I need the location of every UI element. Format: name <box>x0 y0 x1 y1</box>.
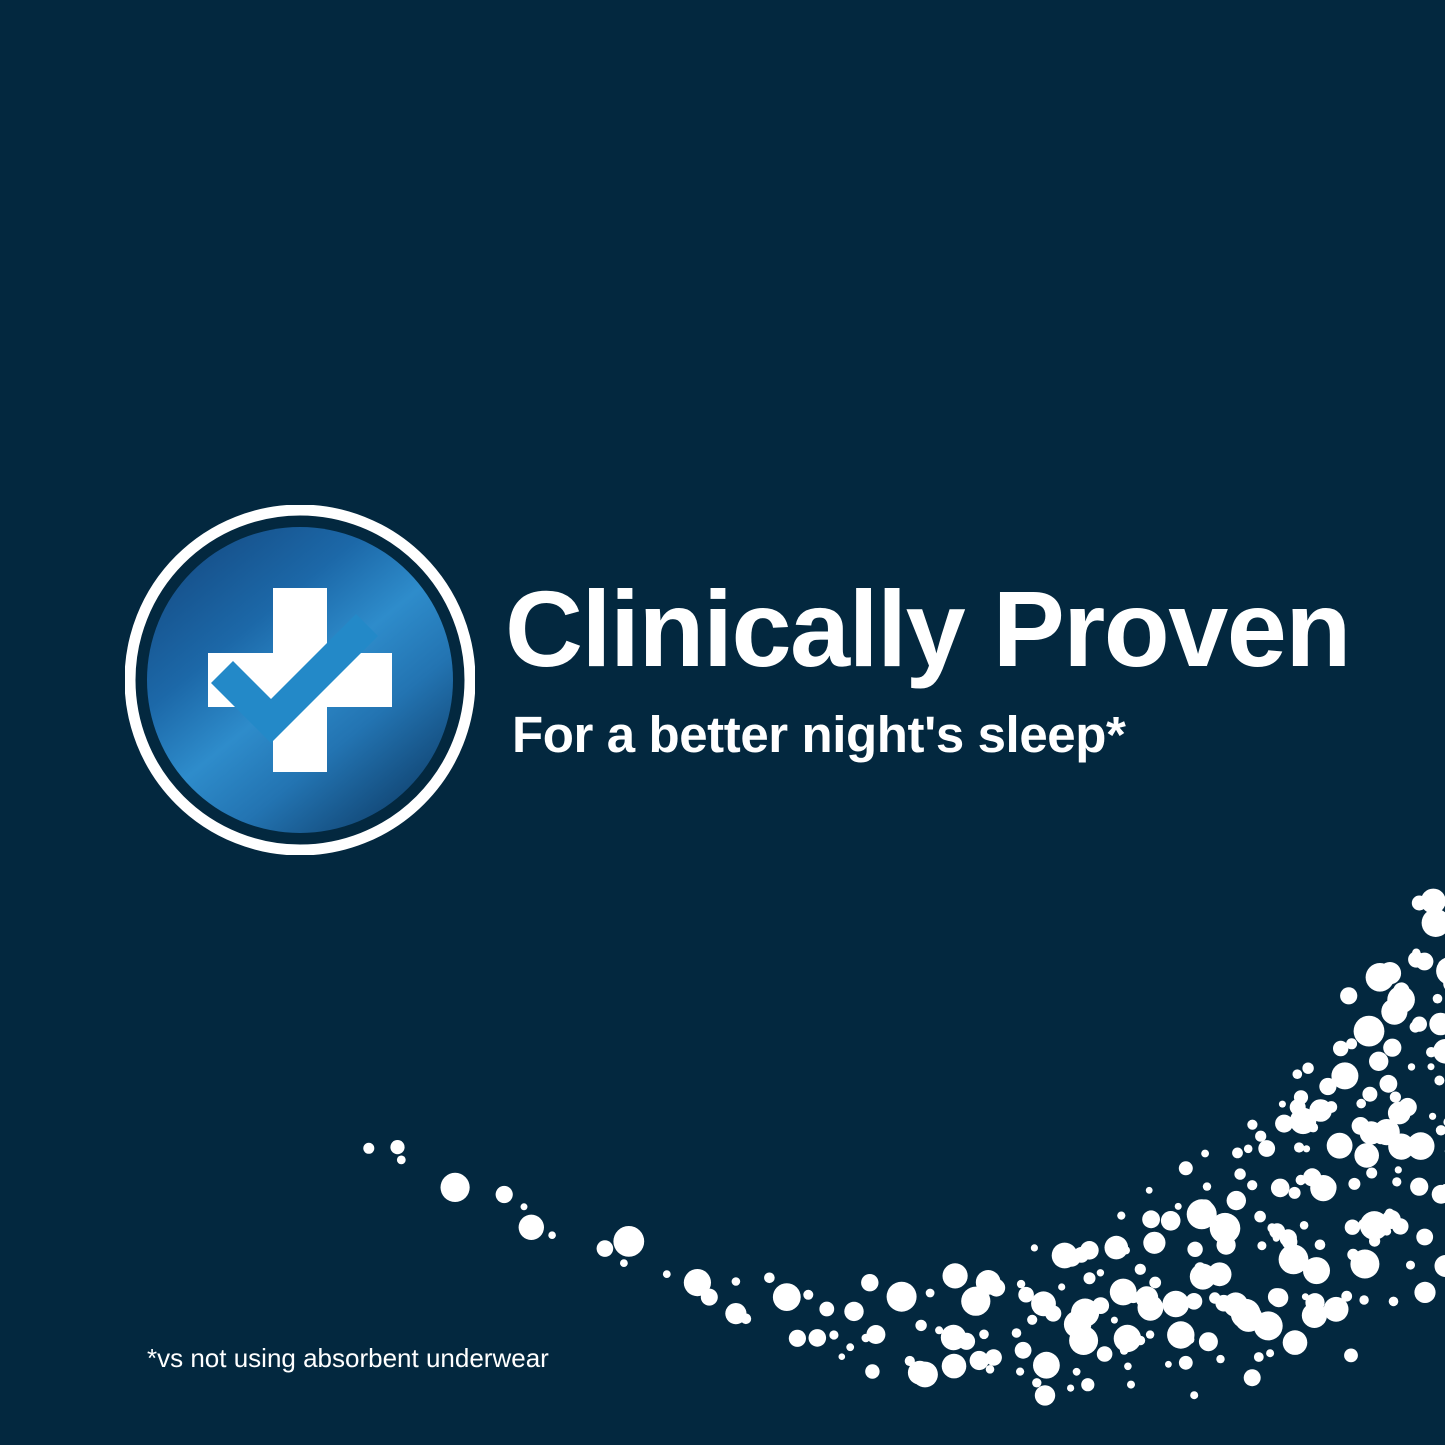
decorative-dot <box>1290 1108 1316 1134</box>
decorative-dot <box>1194 1262 1205 1273</box>
decorative-dot <box>1382 1210 1401 1229</box>
page-title: Clinically Proven <box>505 575 1350 683</box>
decorative-dot <box>1073 1247 1089 1263</box>
decorative-dot <box>1416 953 1434 971</box>
decorative-dot <box>1293 1069 1303 1079</box>
decorative-dot <box>1223 1292 1248 1317</box>
decorative-dot <box>1294 1142 1304 1152</box>
decorative-dot <box>1018 1287 1034 1303</box>
decorative-dot <box>1361 1264 1370 1273</box>
decorative-dot <box>1319 1078 1336 1095</box>
decorative-dot <box>1092 1297 1109 1314</box>
decorative-dot <box>496 1186 513 1203</box>
decorative-dot <box>1379 962 1401 984</box>
decorative-dot <box>1389 1297 1399 1307</box>
decorative-dot <box>1300 1221 1309 1230</box>
decorative-dot <box>1142 1210 1160 1228</box>
decorative-dot <box>1033 1352 1060 1379</box>
decorative-dot <box>1175 1203 1182 1210</box>
decorative-dot <box>809 1329 827 1347</box>
decorative-dot <box>1143 1232 1165 1254</box>
decorative-dot <box>1144 1214 1153 1223</box>
decorative-dot <box>1179 1161 1193 1175</box>
decorative-dot <box>1354 1143 1379 1168</box>
decorative-dot <box>979 1330 989 1340</box>
decorative-dot <box>613 1226 644 1257</box>
decorative-dot <box>1165 1361 1172 1368</box>
decorative-dot <box>1347 1249 1359 1261</box>
decorative-dot <box>597 1240 614 1257</box>
decorative-dot <box>1382 1227 1391 1236</box>
decorative-dot <box>1290 1099 1306 1115</box>
decorative-dot <box>1412 949 1420 957</box>
decorative-dot <box>1084 1327 1092 1335</box>
decorative-dot <box>1408 1063 1415 1070</box>
decorative-dot <box>1117 1212 1125 1220</box>
decorative-dot <box>764 1273 775 1284</box>
decorative-dot <box>1366 963 1395 992</box>
decorative-dot <box>1302 1293 1309 1300</box>
decorative-dot <box>1187 1242 1202 1257</box>
decorative-dot <box>1064 1311 1091 1338</box>
decorative-dot <box>1441 1184 1445 1192</box>
decorative-dot <box>1360 1121 1383 1144</box>
decorative-dot <box>1215 1295 1232 1312</box>
decorative-dot <box>1310 1175 1336 1201</box>
decorative-dot <box>970 1351 989 1370</box>
decorative-dot <box>1309 1099 1332 1122</box>
decorative-dot <box>1324 1297 1349 1322</box>
decorative-dot <box>1406 1261 1415 1270</box>
decorative-dot <box>1331 1062 1358 1089</box>
decorative-dot <box>1258 1140 1275 1157</box>
decorative-dot <box>1012 1328 1022 1338</box>
decorative-dot <box>1254 1211 1266 1223</box>
decorative-dot <box>1016 1368 1024 1376</box>
decorative-dot <box>1227 1191 1246 1210</box>
decorative-dot <box>1410 1021 1421 1032</box>
decorative-dot <box>1341 1291 1352 1302</box>
decorative-dot <box>1031 1291 1056 1316</box>
decorative-dot <box>961 1287 990 1316</box>
decorative-dot <box>1414 1282 1435 1303</box>
decorative-dot <box>1410 1178 1428 1196</box>
decorative-dot <box>1358 1219 1369 1230</box>
decorative-dot <box>1438 960 1445 972</box>
decorative-dot <box>1296 1175 1306 1185</box>
decorative-dot <box>865 1364 879 1378</box>
decorative-dot <box>1247 1180 1257 1190</box>
decorative-dot <box>1167 1321 1194 1348</box>
decorative-dot <box>839 1353 846 1360</box>
decorative-dot <box>1302 1303 1327 1328</box>
decorative-dot <box>1369 1052 1388 1071</box>
decorative-dot <box>1199 1332 1218 1351</box>
decorative-dot <box>1352 1117 1370 1135</box>
decorative-dot <box>1388 1134 1414 1160</box>
decorative-dot <box>1429 1013 1445 1036</box>
decorative-dot <box>942 1354 967 1379</box>
decorative-dot <box>1254 1352 1264 1362</box>
decorative-dot <box>1422 909 1445 937</box>
decorative-dot <box>1376 1135 1385 1144</box>
decorative-dot <box>905 1356 915 1366</box>
decorative-dot <box>1217 1236 1236 1255</box>
decorative-dot <box>1289 1187 1301 1199</box>
decorative-dot <box>1208 1262 1232 1286</box>
decorative-dot <box>1275 1115 1293 1133</box>
decorative-dot <box>1081 1378 1094 1391</box>
decorative-dot <box>1209 1292 1220 1303</box>
decorative-dot <box>915 1320 926 1331</box>
decorative-dot <box>789 1330 806 1347</box>
decorative-dot <box>773 1283 801 1311</box>
decorative-dot <box>620 1259 628 1267</box>
decorative-dot <box>1294 1090 1308 1104</box>
decorative-dot <box>958 1333 975 1350</box>
decorative-dot <box>1268 1288 1286 1306</box>
decorative-dot <box>1110 1279 1137 1306</box>
clinically-proven-badge <box>125 505 475 855</box>
decorative-dot <box>803 1290 813 1300</box>
decorative-dot <box>1069 1326 1098 1355</box>
decorative-dot <box>1234 1168 1245 1179</box>
decorative-dot <box>1032 1378 1041 1387</box>
decorative-dot <box>1340 987 1357 1004</box>
decorative-dot <box>1136 1336 1145 1345</box>
decorative-dot <box>1146 1187 1153 1194</box>
decorative-dot <box>1303 1257 1330 1284</box>
decorative-dot <box>985 1349 1002 1366</box>
decorative-dot <box>519 1215 544 1240</box>
decorative-dot <box>1385 1209 1394 1218</box>
decorative-dot <box>1161 1211 1181 1231</box>
decorative-dot <box>1429 1113 1436 1120</box>
decorative-dot <box>1433 1039 1445 1064</box>
decorative-dot <box>866 1325 885 1344</box>
decorative-dot <box>548 1231 556 1239</box>
decorative-dot <box>1387 986 1415 1014</box>
decorative-dot <box>397 1156 406 1165</box>
decorative-dot <box>1269 1223 1285 1239</box>
decorative-dot <box>1407 1132 1435 1160</box>
decorative-dot <box>1356 1099 1366 1109</box>
decorative-dot <box>1163 1291 1190 1318</box>
decorative-dot <box>1346 1038 1357 1049</box>
decorative-dot <box>1305 1293 1324 1312</box>
decorative-dot <box>846 1343 854 1351</box>
decorative-dot <box>1392 1177 1401 1186</box>
decorative-dot <box>1380 1075 1398 1093</box>
decorative-dot <box>1097 1269 1104 1276</box>
footnote-disclaimer: *vs not using absorbent underwear <box>147 1345 549 1371</box>
decorative-dot <box>444 1177 452 1185</box>
decorative-dot <box>986 1365 995 1374</box>
decorative-dot <box>912 1362 938 1388</box>
decorative-dot <box>1362 1087 1377 1102</box>
decorative-dot <box>908 1361 932 1385</box>
decorative-dot <box>1105 1236 1129 1260</box>
decorative-dot <box>1127 1381 1135 1389</box>
decorative-dot <box>1315 1240 1326 1251</box>
decorative-dot <box>1201 1150 1209 1158</box>
decorative-dot <box>1198 1199 1213 1214</box>
decorative-dot <box>1381 999 1407 1025</box>
decorative-dot <box>1433 994 1443 1004</box>
decorative-dot <box>1350 1250 1379 1279</box>
decorative-dot <box>1080 1241 1099 1260</box>
decorative-dot <box>941 1325 966 1350</box>
decorative-dot <box>663 1270 671 1278</box>
decorative-dot <box>1305 1269 1315 1279</box>
decorative-dot <box>1361 1031 1369 1039</box>
decorative-dot <box>1203 1182 1211 1190</box>
decorative-dot <box>1052 1243 1078 1269</box>
decorative-dot <box>701 1289 718 1306</box>
decorative-dot <box>1186 1293 1203 1310</box>
decorative-dot <box>1149 1277 1161 1289</box>
decorative-dot <box>1345 1220 1360 1235</box>
decorative-dot <box>1346 1075 1356 1085</box>
decorative-dot <box>725 1303 746 1324</box>
decorative-dot <box>1045 1305 1061 1321</box>
decorative-dot <box>1071 1299 1099 1327</box>
decorative-dot <box>1186 1335 1195 1344</box>
decorative-dot <box>1421 889 1445 914</box>
decorative-dot <box>1388 1102 1411 1125</box>
decorative-dot <box>1412 896 1427 911</box>
decorative-dot <box>390 1140 404 1154</box>
decorative-dot <box>1269 1288 1288 1307</box>
decorative-dot <box>1190 1391 1198 1399</box>
decorative-dot <box>1247 1120 1257 1130</box>
decorative-dot <box>684 1269 711 1296</box>
decorative-dot <box>887 1282 917 1312</box>
decorative-dot <box>1398 1098 1416 1116</box>
decorative-dot <box>1354 1016 1385 1047</box>
decorative-dot <box>1017 1280 1025 1288</box>
decorative-dot <box>1273 1235 1280 1242</box>
decorative-dot <box>1369 973 1377 981</box>
decorative-dot <box>1058 1283 1065 1290</box>
decorative-dot <box>1267 1223 1276 1232</box>
decorative-dot <box>1216 1355 1224 1363</box>
decorative-dot <box>1146 1330 1154 1338</box>
promo-banner: Clinically Proven For a better night's s… <box>0 0 1445 1445</box>
decorative-dot <box>1135 1264 1146 1275</box>
decorative-dot <box>1280 1229 1297 1246</box>
decorative-dot <box>521 1203 528 1210</box>
decorative-dot <box>1302 1063 1313 1074</box>
decorative-dot <box>1114 1325 1141 1352</box>
decorative-dot <box>1027 1315 1037 1325</box>
decorative-dot <box>1434 1076 1444 1086</box>
decorative-dot <box>1120 1346 1128 1354</box>
decorative-dot <box>1344 1349 1358 1363</box>
decorative-dot <box>976 1270 1001 1295</box>
decorative-dot <box>1432 1185 1445 1204</box>
decorative-dot <box>1395 1166 1402 1173</box>
decorative-dot <box>1255 1131 1266 1142</box>
decorative-dot <box>963 1298 972 1307</box>
decorative-dot <box>829 1330 838 1339</box>
decorative-dot <box>1254 1311 1283 1340</box>
decorative-dot <box>1303 1145 1310 1152</box>
decorative-dot <box>1333 1041 1348 1056</box>
decorative-dot <box>441 1173 470 1202</box>
decorative-dot <box>1279 1245 1309 1275</box>
decorative-dot <box>1348 1178 1360 1190</box>
decorative-dot <box>1135 1286 1158 1309</box>
decorative-dot <box>1035 1385 1055 1405</box>
decorative-dot <box>687 1277 695 1285</box>
decorative-dot <box>1392 1218 1408 1234</box>
decorative-dot <box>1360 1211 1389 1240</box>
decorative-dot <box>1436 957 1445 985</box>
decorative-dot <box>862 1334 871 1343</box>
decorative-dot <box>1138 1295 1164 1321</box>
decorative-dot <box>1187 1199 1217 1229</box>
decorative-dot <box>1015 1342 1032 1359</box>
decorative-dot <box>861 1274 878 1291</box>
decorative-dot <box>1436 1125 1445 1135</box>
decorative-dot <box>1190 1264 1216 1290</box>
decorative-dot <box>1317 1177 1337 1197</box>
decorative-dot <box>844 1302 863 1321</box>
decorative-dot <box>926 1289 935 1298</box>
decorative-dot <box>1127 1291 1139 1303</box>
decorative-dot <box>1327 1133 1353 1159</box>
decorative-dot <box>1244 1369 1261 1386</box>
decorative-dot <box>1303 1168 1321 1186</box>
decorative-dot <box>1383 1039 1401 1057</box>
decorative-dot <box>1393 982 1409 998</box>
decorative-dot <box>988 1279 1006 1297</box>
decorative-dot <box>1231 1299 1261 1329</box>
decorative-dot <box>1283 1330 1308 1355</box>
decorative-dot <box>1369 1236 1380 1247</box>
decorative-dot <box>363 1143 374 1154</box>
decorative-dot <box>1435 1255 1445 1277</box>
decorative-dot <box>819 1302 834 1317</box>
decorative-dot <box>1111 1317 1118 1324</box>
decorative-dot <box>1063 1249 1081 1267</box>
decorative-dot <box>1124 1363 1132 1371</box>
decorative-dot <box>1097 1346 1113 1362</box>
decorative-dot <box>1428 1063 1435 1070</box>
decorative-dot <box>1179 1356 1193 1370</box>
decorative-dot <box>1426 1047 1436 1057</box>
decorative-dot <box>1374 1119 1400 1145</box>
decorative-dot <box>1235 1304 1263 1332</box>
decorative-dot <box>1359 1295 1368 1304</box>
decorative-dot <box>1232 1148 1243 1159</box>
decorative-dot <box>1416 1229 1433 1246</box>
decorative-dot <box>741 1314 752 1325</box>
decorative-dot <box>1366 1168 1377 1179</box>
decorative-dot <box>1244 1145 1253 1154</box>
decorative-dot <box>732 1277 741 1286</box>
decorative-dot <box>1308 1123 1318 1133</box>
decorative-dot <box>1282 1234 1297 1249</box>
decorative-dot <box>1322 1079 1332 1089</box>
decorative-dot <box>1390 1092 1401 1103</box>
decorative-dot <box>1073 1368 1081 1376</box>
decorative-dot <box>1122 1246 1130 1254</box>
decorative-dot <box>1031 1244 1038 1251</box>
decorative-dot <box>1266 1349 1274 1357</box>
page-subtitle: For a better night's sleep* <box>512 709 1125 760</box>
decorative-dot <box>1210 1213 1241 1244</box>
decorative-dot <box>1084 1272 1096 1284</box>
decorative-dot <box>1257 1241 1266 1250</box>
decorative-dot <box>943 1263 968 1288</box>
decorative-dot <box>1271 1179 1290 1198</box>
decorative-dot <box>1279 1101 1286 1108</box>
decorative-dot <box>1325 1101 1337 1113</box>
decorative-dot <box>1067 1385 1074 1392</box>
decorative-dot <box>1408 951 1424 967</box>
decorative-dot <box>935 1326 943 1334</box>
decorative-dot <box>1412 1017 1427 1032</box>
